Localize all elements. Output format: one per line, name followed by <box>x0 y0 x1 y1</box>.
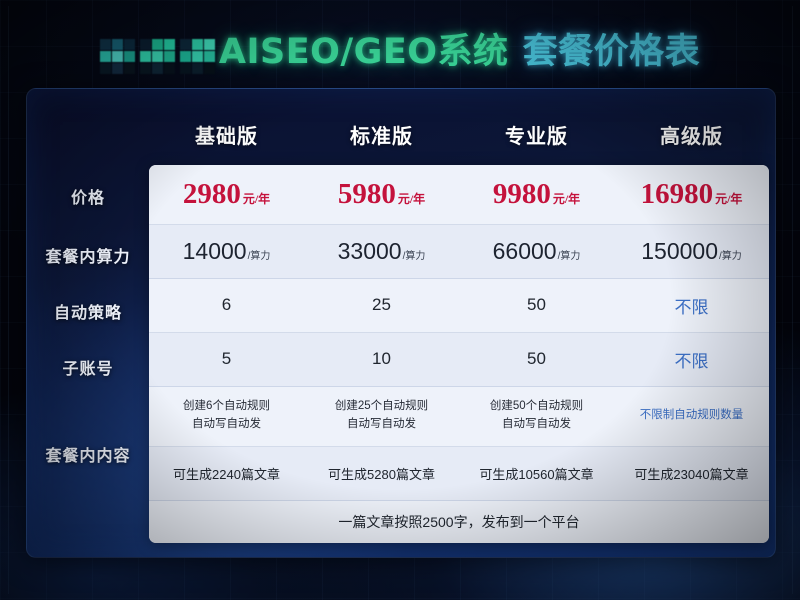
power-unit-advanced: /算力 <box>719 247 742 262</box>
power-unit-professional: /算力 <box>558 247 581 262</box>
title-english: AISEO/GEO系统 <box>219 35 509 70</box>
subaccount-cell-advanced: 不限 <box>614 333 769 386</box>
decorative-line-right <box>792 6 793 594</box>
strategy-cell-advanced: 不限 <box>614 279 769 332</box>
table-row-rules: 创建6个自动规则 自动写自动发 创建25个自动规则 自动写自动发 创建50个自动… <box>149 387 769 447</box>
decorative-line-left <box>8 6 9 594</box>
rules-line2-standard: 自动写自动发 <box>347 416 416 434</box>
articles-value-professional: 可生成10560篇文章 <box>479 464 593 483</box>
subaccount-cell-standard: 10 <box>304 333 459 386</box>
rules-cell-advanced: 不限制自动规则数量 <box>614 387 769 446</box>
price-unit-advanced: 元/年 <box>715 193 742 205</box>
rules-line1-professional: 创建50个自动规则 <box>490 398 583 416</box>
pricing-poster: AISEO/GEO系统 套餐价格表 基础版 标准版 专业版 高级版 价格 套餐内… <box>0 0 800 600</box>
pricing-card: 基础版 标准版 专业版 高级版 价格 套餐内算力 自动策略 子账号 套餐内内容 … <box>26 88 776 558</box>
rules-cell-standard: 创建25个自动规则 自动写自动发 <box>304 387 459 446</box>
rules-cell-basic: 创建6个自动规则 自动写自动发 <box>149 387 304 446</box>
price-cell-professional: 9980 元/年 <box>459 165 614 224</box>
strategy-value-professional: 50 <box>527 295 546 315</box>
price-value-advanced: 16980 <box>641 180 714 209</box>
table-row-articles: 可生成2240篇文章 可生成5280篇文章 可生成10560篇文章 可生成230… <box>149 447 769 501</box>
subaccount-cell-basic: 5 <box>149 333 304 386</box>
articles-cell-standard: 可生成5280篇文章 <box>304 447 459 500</box>
power-value-professional: 66000 <box>493 238 557 265</box>
rules-line2-professional: 自动写自动发 <box>502 416 571 434</box>
subaccount-value-advanced: 不限 <box>675 347 709 372</box>
articles-cell-advanced: 可生成23040篇文章 <box>614 447 769 500</box>
price-value-standard: 5980 <box>338 180 396 209</box>
row-label-power: 套餐内算力 <box>27 227 149 283</box>
price-unit-basic: 元/年 <box>243 193 270 205</box>
price-value-professional: 9980 <box>493 180 551 209</box>
column-header-professional: 专业版 <box>459 103 614 165</box>
strategy-cell-basic: 6 <box>149 279 304 332</box>
poster-title: AISEO/GEO系统 套餐价格表 <box>0 24 800 80</box>
rules-line2-basic: 自动写自动发 <box>192 416 261 434</box>
subaccount-value-standard: 10 <box>372 349 391 369</box>
row-label-content: 套餐内内容 <box>27 395 149 513</box>
articles-cell-basic: 可生成2240篇文章 <box>149 447 304 500</box>
title-chinese: 套餐价格表 <box>523 35 701 70</box>
articles-cell-professional: 可生成10560篇文章 <box>459 447 614 500</box>
price-cell-standard: 5980 元/年 <box>304 165 459 224</box>
table-row-footer-note: 一篇文章按照2500字，发布到一个平台 <box>149 501 769 543</box>
subaccount-value-basic: 5 <box>222 349 231 369</box>
row-label-subaccount: 子账号 <box>27 339 149 395</box>
power-cell-professional: 66000 /算力 <box>459 225 614 278</box>
power-cell-basic: 14000 /算力 <box>149 225 304 278</box>
subaccount-value-professional: 50 <box>527 349 546 369</box>
column-header-advanced: 高级版 <box>614 103 769 165</box>
table-row-subaccount: 5 10 50 不限 <box>149 333 769 387</box>
table-row-power: 14000 /算力 33000 /算力 66000 /算力 <box>149 225 769 279</box>
censored-logo-mosaic-icon <box>100 30 215 74</box>
articles-value-advanced: 可生成23040篇文章 <box>634 464 748 483</box>
articles-value-basic: 可生成2240篇文章 <box>173 464 280 483</box>
rules-line1-advanced: 不限制自动规则数量 <box>640 407 744 425</box>
price-cell-advanced: 16980 元/年 <box>614 165 769 224</box>
power-value-basic: 14000 <box>183 238 247 265</box>
row-label-column: 价格 套餐内算力 自动策略 子账号 套餐内内容 <box>27 165 149 557</box>
price-unit-professional: 元/年 <box>553 193 580 205</box>
strategy-value-standard: 25 <box>372 295 391 315</box>
table-row-strategy: 6 25 50 不限 <box>149 279 769 333</box>
power-unit-standard: /算力 <box>403 247 426 262</box>
power-cell-advanced: 150000 /算力 <box>614 225 769 278</box>
power-cell-standard: 33000 /算力 <box>304 225 459 278</box>
price-unit-standard: 元/年 <box>398 193 425 205</box>
price-cell-basic: 2980 元/年 <box>149 165 304 224</box>
strategy-cell-professional: 50 <box>459 279 614 332</box>
articles-value-standard: 可生成5280篇文章 <box>328 464 435 483</box>
column-header-row: 基础版 标准版 专业版 高级版 <box>149 103 769 165</box>
subaccount-cell-professional: 50 <box>459 333 614 386</box>
data-panel: 2980 元/年 5980 元/年 9980 元/年 <box>149 165 769 543</box>
table-row-price: 2980 元/年 5980 元/年 9980 元/年 <box>149 165 769 225</box>
footer-note: 一篇文章按照2500字，发布到一个平台 <box>149 501 769 543</box>
price-value-basic: 2980 <box>183 180 241 209</box>
strategy-value-advanced: 不限 <box>675 293 709 318</box>
rules-cell-professional: 创建50个自动规则 自动写自动发 <box>459 387 614 446</box>
strategy-cell-standard: 25 <box>304 279 459 332</box>
rules-line1-standard: 创建25个自动规则 <box>335 398 428 416</box>
row-label-price: 价格 <box>27 165 149 227</box>
strategy-value-basic: 6 <box>222 295 231 315</box>
row-label-strategy: 自动策略 <box>27 283 149 339</box>
power-unit-basic: /算力 <box>248 247 271 262</box>
rules-line1-basic: 创建6个自动规则 <box>183 398 270 416</box>
power-value-standard: 33000 <box>338 238 402 265</box>
column-header-standard: 标准版 <box>304 103 459 165</box>
column-header-basic: 基础版 <box>149 103 304 165</box>
power-value-advanced: 150000 <box>641 238 718 265</box>
